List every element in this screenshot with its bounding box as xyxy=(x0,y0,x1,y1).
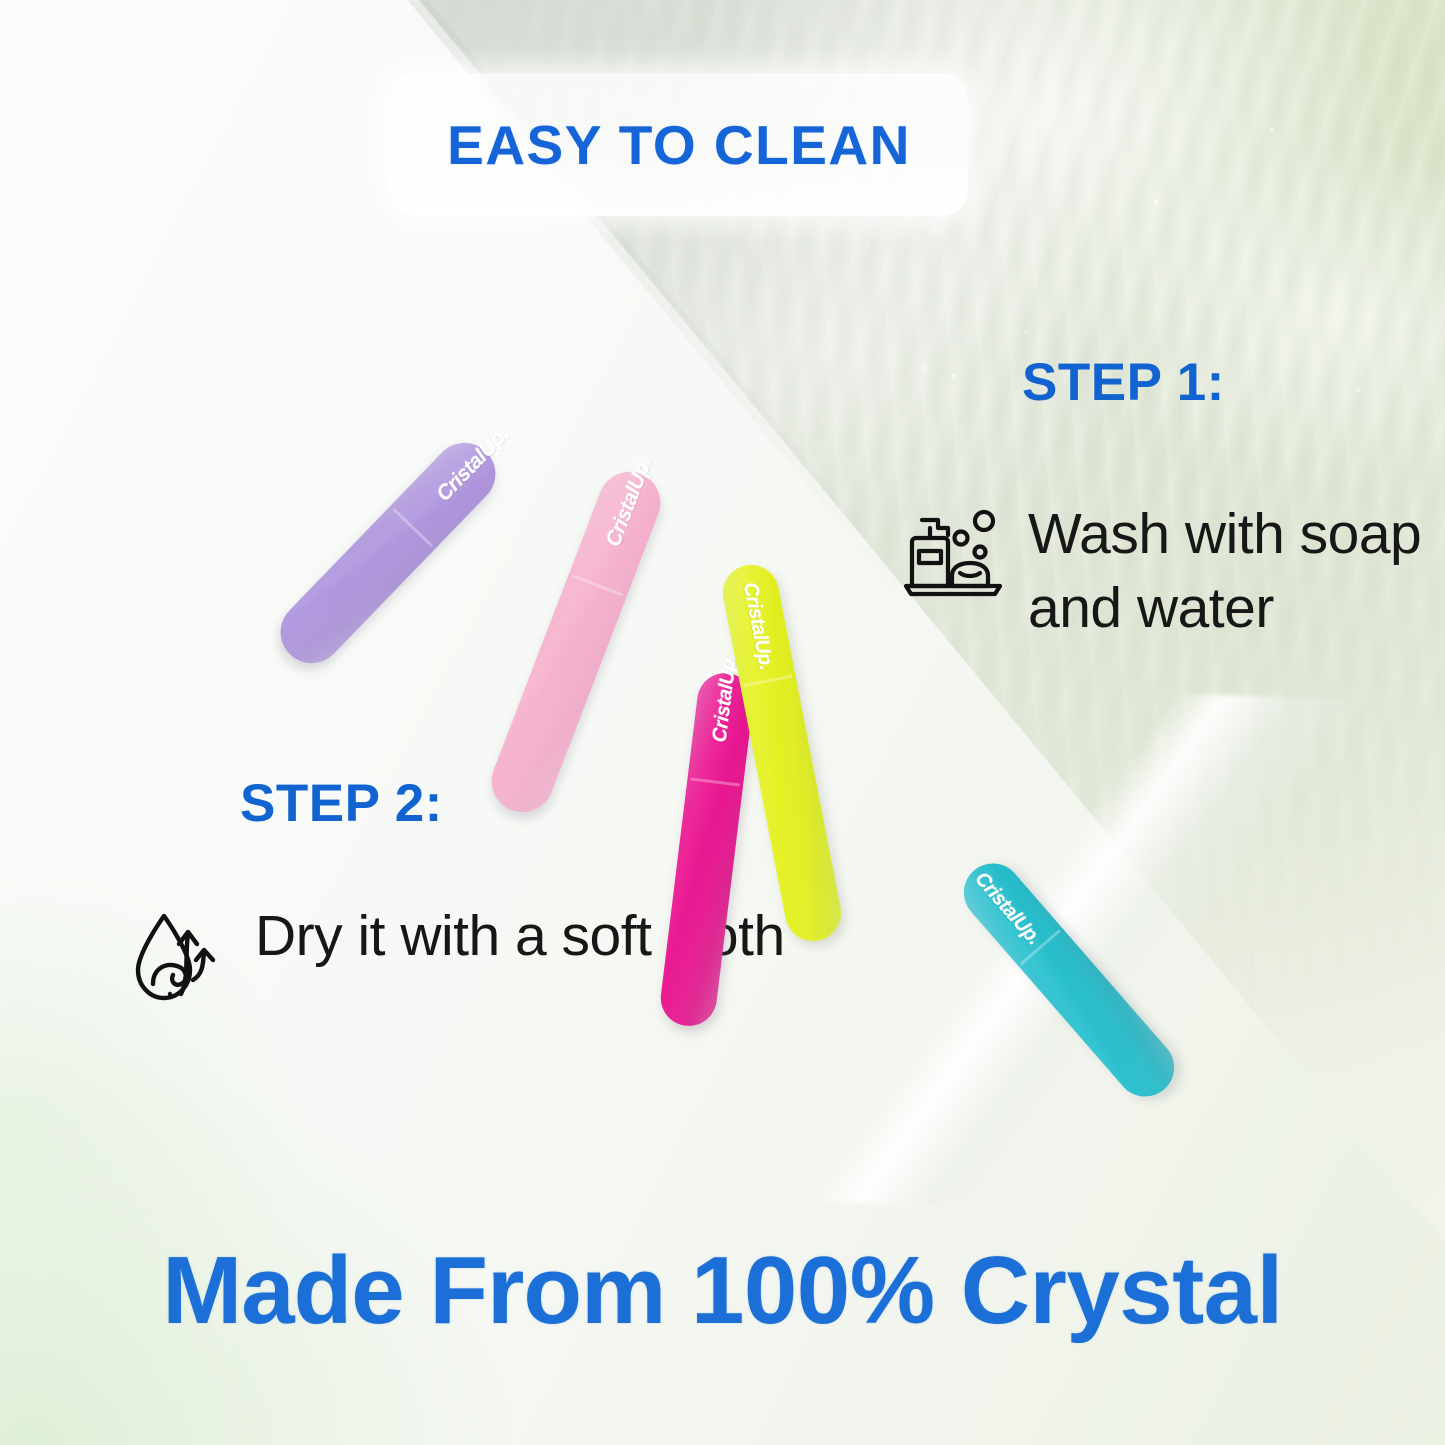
headline-part-2: 100% Crystal xyxy=(691,1237,1283,1344)
bottom-headline: Made From 100% Crystal xyxy=(0,1243,1445,1339)
badge-title: EASY TO CLEAN xyxy=(447,113,911,177)
water-drop-evaporate-icon xyxy=(131,908,227,1011)
easy-to-clean-badge: EASY TO CLEAN xyxy=(390,74,968,216)
headline-part-1: Made From xyxy=(162,1237,691,1344)
infographic-canvas: EASY TO CLEAN STEP 1: xyxy=(0,0,1445,1445)
step-1-block: Wash with soap and water xyxy=(900,498,1445,645)
soap-dispenser-icon xyxy=(900,504,1006,607)
step-1-text: Wash with soap and water xyxy=(1028,498,1445,645)
step-2-label: STEP 2: xyxy=(240,773,443,834)
step-1-label: STEP 1: xyxy=(1022,352,1225,413)
